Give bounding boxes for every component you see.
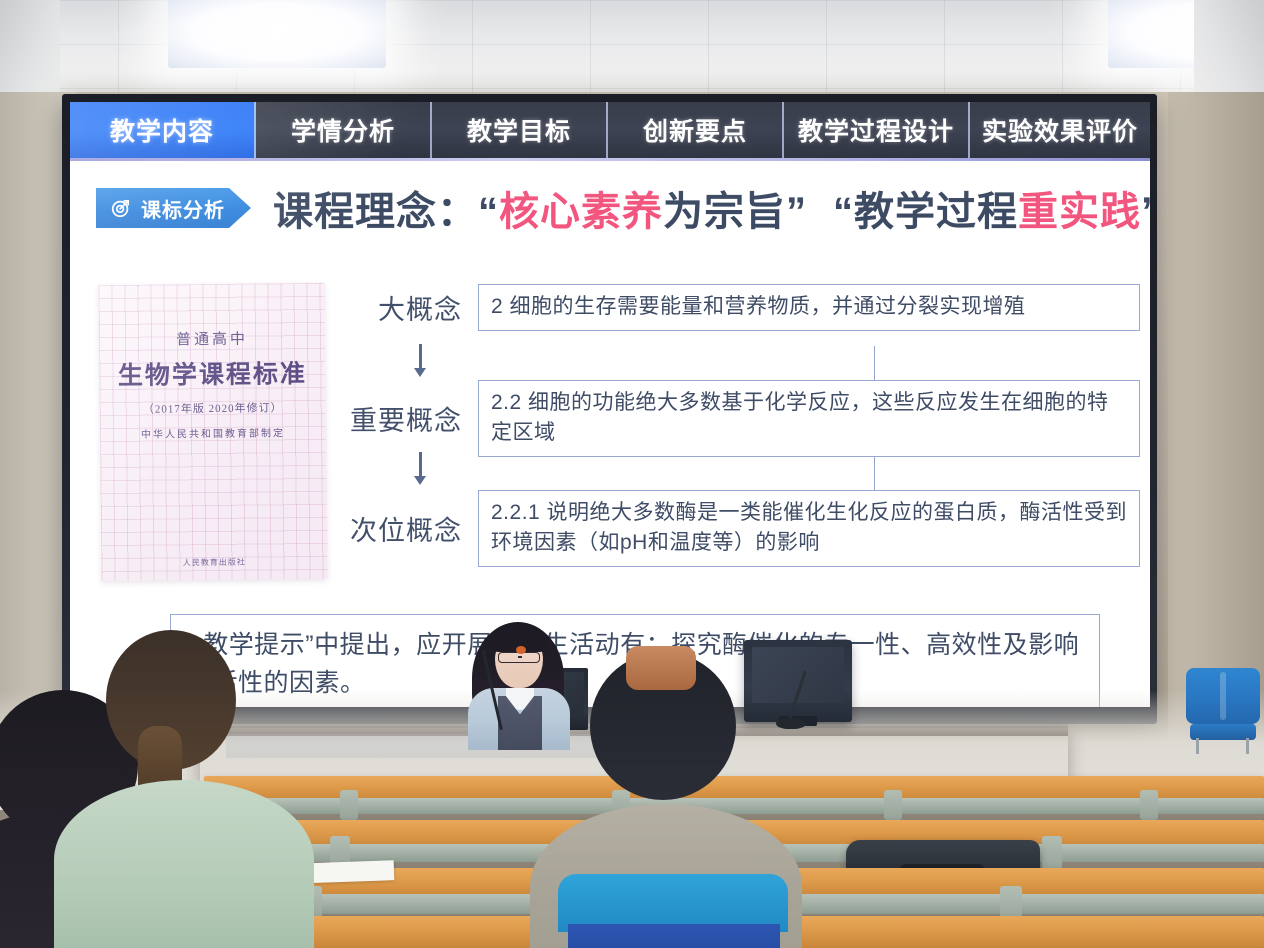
title-quote2-highlight: 重实践 (1018, 190, 1141, 234)
section-badge: 课标分析 (96, 188, 251, 228)
tab-label: 创新要点 (643, 112, 747, 148)
lecture-hall-scene: 教学内容 学情分析 教学目标 创新要点 教学过程设计 实验效果评价 (0, 0, 1264, 948)
tab-label: 学情分析 (291, 112, 395, 148)
tab-innovation-points[interactable]: 创新要点 (608, 102, 784, 158)
sweater-stripe-dark (568, 924, 780, 948)
desk-bracket (1042, 836, 1062, 870)
flow-connector-1 (874, 346, 875, 380)
concept-text-box: 2.2.1 说明绝大多数酶是一类能催化生化反应的蛋白质，酶活性受到环境因素（如p… (478, 490, 1140, 567)
tab-label: 教学内容 (110, 112, 214, 148)
chair-leg (1196, 738, 1199, 754)
flow-arrow-down-1 (414, 344, 426, 377)
book-publisher: 人民教育出版社 (101, 556, 327, 569)
tab-teaching-content[interactable]: 教学内容 (70, 102, 256, 158)
title-quote1-highlight: 核心素养 (499, 190, 663, 234)
concept-row-important: 重要概念 2.2 细胞的功能绝大多数基于化学反应，这些反应发生在细胞的特定区域 (328, 380, 1140, 457)
slide: 教学内容 学情分析 教学目标 创新要点 教学过程设计 实验效果评价 (70, 102, 1150, 707)
tab-label: 实验效果评价 (982, 112, 1138, 148)
audience-member-center (540, 652, 790, 948)
book-line-1: 普通高中 (99, 327, 325, 350)
title-quote1-close: ” (786, 190, 807, 234)
ceiling-edge-right (1194, 0, 1264, 96)
chair-leg (1246, 738, 1249, 754)
book-line-2: 生物学课程标准 (99, 354, 325, 392)
section-badge-label: 课标分析 (141, 194, 225, 223)
tab-experiment-evaluation[interactable]: 实验效果评价 (970, 102, 1150, 158)
tab-process-design[interactable]: 教学过程设计 (784, 102, 970, 158)
page-title: 课程理念：“核心素养为宗旨”“教学过程重实践” (273, 179, 1150, 237)
desk-bracket (1140, 790, 1158, 820)
title-lead: 课程理念： (273, 190, 478, 234)
concept-hierarchy-flow: 大概念 2 细胞的生存需要能量和营养物质，并通过分裂实现增殖 重要概念 2.2 … (328, 284, 1140, 604)
tab-label: 教学过程设计 (798, 112, 954, 148)
presentation-screen[interactable]: 教学内容 学情分析 教学目标 创新要点 教学过程设计 实验效果评价 (70, 102, 1150, 707)
concept-row-big: 大概念 2 细胞的生存需要能量和营养物质，并通过分裂实现增殖 (328, 284, 1140, 331)
concept-row-sub: 次位概念 2.2.1 说明绝大多数酶是一类能催化生化反应的蛋白质，酶活性受到环境… (328, 490, 1140, 567)
concept-level-label: 重要概念 (328, 399, 478, 438)
target-icon (110, 197, 132, 219)
stacked-blue-chairs (1186, 668, 1260, 752)
title-quote2-open: “ (833, 190, 854, 234)
slide-title-row: 课标分析 课程理念：“核心素养为宗旨”“教学过程重实践” (70, 172, 1150, 244)
desk-bracket (884, 790, 902, 820)
hair-bow (626, 646, 696, 690)
title-quote1-open: “ (478, 190, 499, 234)
ceiling (0, 0, 1264, 96)
book-line-4: 中华人民共和国教育部制定 (100, 424, 326, 441)
title-quote2-close: ” (1141, 190, 1150, 234)
tab-student-analysis[interactable]: 学情分析 (256, 102, 432, 158)
concept-text-box: 2.2 细胞的功能绝大多数基于化学反应，这些反应发生在细胞的特定区域 (478, 380, 1140, 457)
tab-teaching-goals[interactable]: 教学目标 (432, 102, 608, 158)
chair-back (1186, 668, 1260, 724)
title-quote1-rest: 为宗旨 (663, 190, 786, 234)
ceiling-edge-left (0, 0, 60, 96)
tab-label: 教学目标 (467, 112, 571, 148)
flow-arrow-down-2 (414, 452, 426, 485)
tabbar-underline (70, 158, 1150, 161)
book-line-3: （2017年版 2020年修订） (100, 399, 326, 417)
ceiling-light-left (168, 0, 386, 68)
presenter-microphone-head (516, 646, 526, 654)
slide-tabbar: 教学内容 学情分析 教学目标 创新要点 教学过程设计 实验效果评价 (70, 102, 1150, 158)
curriculum-standard-book-cover: 普通高中 生物学课程标准 （2017年版 2020年修订） 中华人民共和国教育部… (98, 283, 327, 581)
desk-bracket (340, 790, 358, 820)
concept-level-label: 大概念 (328, 288, 478, 327)
flow-connector-2 (874, 456, 875, 490)
concept-text-box: 2 细胞的生存需要能量和营养物质，并通过分裂实现增殖 (478, 284, 1140, 331)
audience-member-left (60, 630, 300, 948)
concept-level-label: 次位概念 (328, 509, 478, 548)
title-quote2-rest: 教学过程 (854, 190, 1018, 234)
